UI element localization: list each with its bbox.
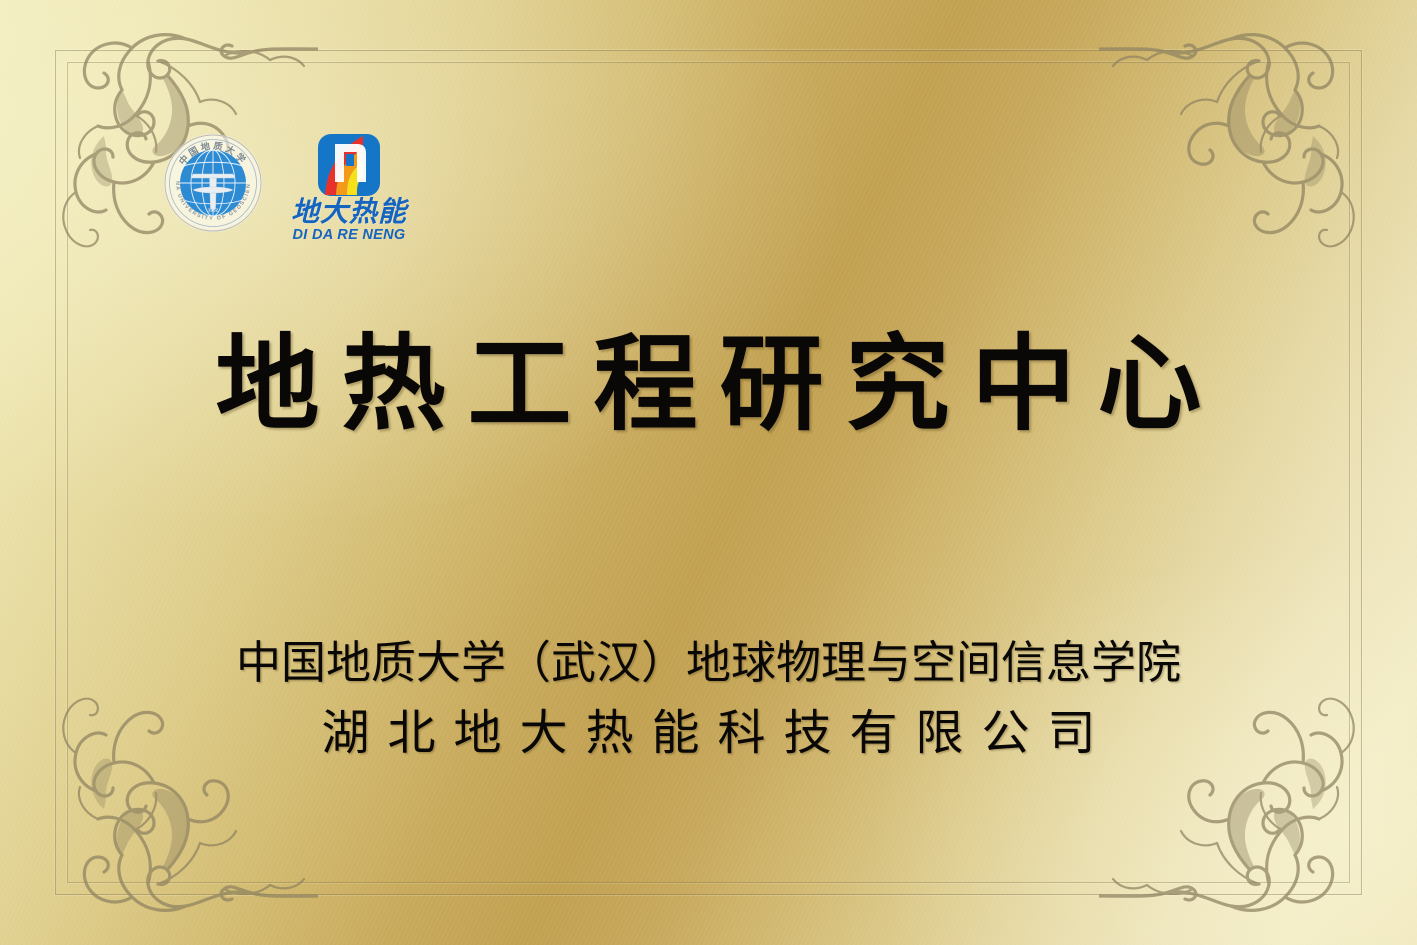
award-plaque: 中国地质大学 CHINA UNIVERSITY OF GEOSCIENCES 1… <box>0 0 1417 945</box>
company-name-cn: 地大热能 <box>291 198 407 226</box>
company-name-en: DI DA RE NENG <box>293 227 406 244</box>
plaque-title: 地热工程研究中心 <box>0 326 1417 442</box>
logo-row: 中国地质大学 CHINA UNIVERSITY OF GEOSCIENCES 1… <box>163 133 407 244</box>
subtitle-line-2: 湖北地大热能科技有限公司 <box>0 702 1417 764</box>
svg-text:1952: 1952 <box>208 208 219 213</box>
corner-flourish-top-right-icon <box>1099 4 1399 259</box>
subtitle-line-1: 中国地质大学（武汉）地球物理与空间信息学院 <box>0 634 1417 692</box>
company-logo: 地大热能 DI DA RE NENG <box>291 133 407 244</box>
university-seal: 中国地质大学 CHINA UNIVERSITY OF GEOSCIENCES 1… <box>163 133 263 233</box>
plaque-subtitles: 中国地质大学（武汉）地球物理与空间信息学院 湖北地大热能科技有限公司 <box>0 634 1417 764</box>
didareneng-mark-icon <box>317 133 381 197</box>
